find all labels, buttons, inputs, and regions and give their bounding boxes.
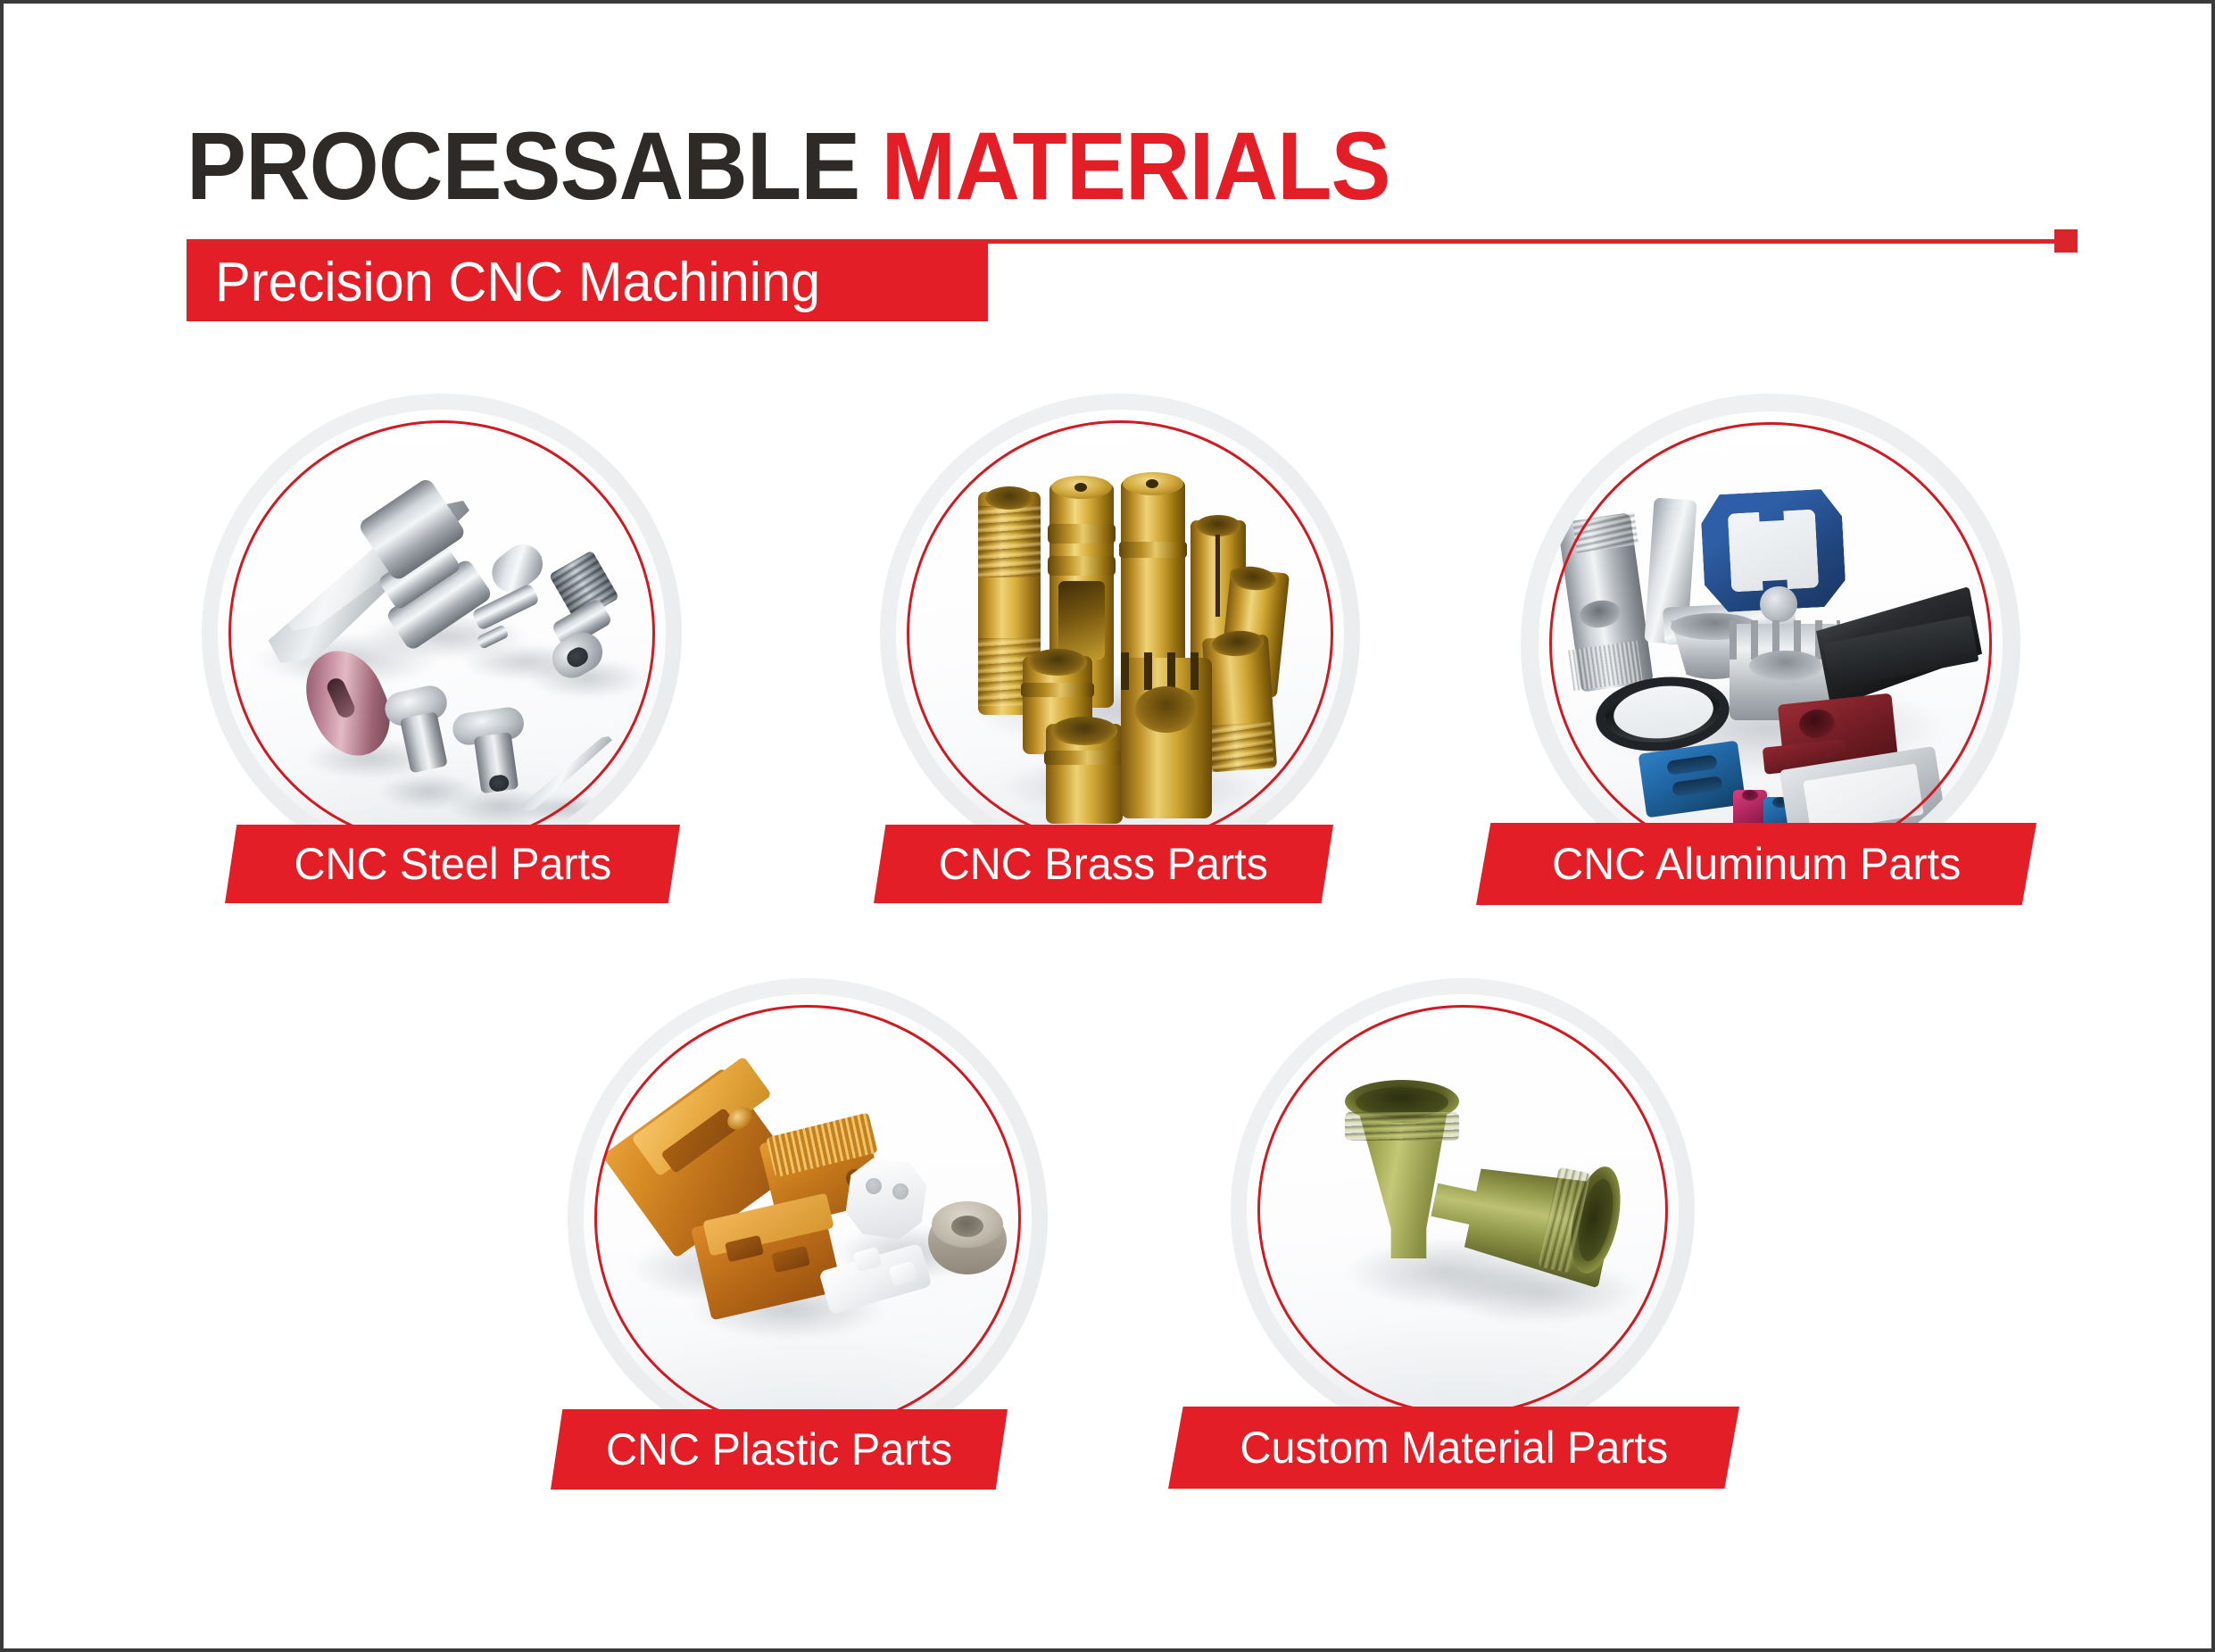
part-alu-blue-bracket-window — [1728, 509, 1819, 592]
card-label-aluminum: CNC Aluminum Parts — [1552, 838, 1961, 890]
card-label-banner-custom[interactable]: Custom Material Parts — [1168, 1407, 1739, 1489]
part-brass-cylinder-step — [1119, 542, 1187, 558]
part-brass-groove-window — [1058, 581, 1105, 660]
card-label-steel: CNC Steel Parts — [294, 838, 611, 890]
part-brass-top-hole-1 — [1074, 483, 1087, 492]
material-card-steel[interactable] — [202, 394, 682, 874]
part-brass-sleeve-b-bore — [1051, 717, 1117, 745]
part-brass-sleeve-a-lip — [1021, 683, 1094, 697]
material-card-brass[interactable] — [880, 394, 1360, 874]
part-brass-groove-ring-2 — [1048, 556, 1116, 576]
card-label-banner-brass[interactable]: CNC Brass Parts — [874, 825, 1333, 903]
card-photo-steel — [218, 410, 666, 858]
part-brass-top-hole-2 — [1146, 479, 1158, 488]
part-custom-olive-housing-threads — [1345, 1112, 1459, 1141]
card-label-plastic: CNC Plastic Parts — [606, 1424, 952, 1475]
page-title-primary: PROCESSABLE — [187, 112, 859, 220]
page-title: PROCESSABLEMATERIALS — [187, 118, 1390, 214]
part-brass-sleeve-a-bore — [1028, 649, 1087, 676]
card-photo-brass — [896, 410, 1344, 858]
page-title-accent: MATERIALS — [882, 112, 1390, 220]
card-photo-custom — [1247, 994, 1679, 1426]
part-brass-collet-threads-low — [1205, 721, 1273, 772]
material-card-custom[interactable] — [1231, 978, 1695, 1442]
card-photo-aluminum — [1539, 411, 2003, 876]
part-bushing-b — [451, 705, 538, 809]
subtitle-banner: Precision CNC Machining — [187, 243, 988, 321]
part-brass-crown-teeth — [1121, 652, 1212, 690]
card-label-brass: CNC Brass Parts — [939, 838, 1268, 890]
poster-canvas: PROCESSABLEMATERIALS Precision CNC Machi… — [0, 0, 2215, 1652]
card-label-banner-plastic[interactable]: CNC Plastic Parts — [551, 1409, 1008, 1490]
part-brass-crown-inner — [1135, 686, 1198, 733]
part-brass-nipple-threads — [978, 506, 1041, 577]
part-brass-collet-slot-top — [1215, 535, 1220, 617]
part-brass-sleeve-b-lip — [1044, 751, 1124, 765]
part-plastic-white-hex-hole-a — [866, 1178, 882, 1194]
part-plastic-peek-washer-bore — [951, 1216, 983, 1237]
card-label-banner-aluminum[interactable]: CNC Aluminum Parts — [1476, 823, 2037, 905]
part-brass-nipple-bore — [985, 486, 1033, 510]
part-alu-castellated-bore — [1749, 651, 1822, 681]
card-photo-plastic — [584, 994, 1032, 1442]
subtitle-label: Precision CNC Machining — [215, 251, 820, 314]
header-rule-end-cap — [2054, 229, 2078, 253]
card-label-custom: Custom Material Parts — [1240, 1422, 1668, 1474]
material-card-plastic[interactable] — [568, 978, 1048, 1458]
poster-header: PROCESSABLEMATERIALS Precision CNC Machi… — [4, 4, 2215, 361]
part-plastic-white-hex-hole-b — [892, 1183, 908, 1200]
part-brass-groove-ring-1 — [1048, 524, 1116, 544]
part-brass-collet-bore-top — [1196, 515, 1240, 536]
part-alu-pink-spacer-bore — [1742, 790, 1758, 801]
material-card-aluminum[interactable] — [1521, 394, 2020, 893]
card-label-banner-steel[interactable]: CNC Steel Parts — [225, 825, 680, 903]
